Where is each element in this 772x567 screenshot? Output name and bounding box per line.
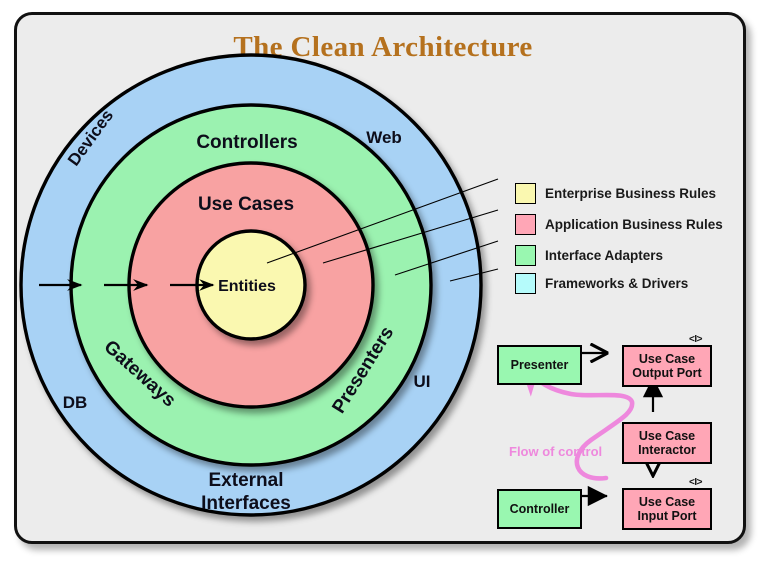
legend-label-application: Application Business Rules	[545, 218, 723, 232]
flow-box-presenter[interactable]: Presenter	[497, 345, 582, 385]
flow-box-input-port-line2: Input Port	[637, 509, 696, 523]
ring-label-external-line1: External	[209, 470, 284, 491]
flow-box-input-port-line1: Use Case	[639, 495, 695, 509]
page-title: The Clean Architecture	[17, 31, 749, 64]
ring-label-controllers: Controllers	[196, 132, 297, 153]
ring-label-ui: UI	[414, 372, 431, 391]
interface-marker-input-port: <I>	[689, 477, 702, 488]
flow-box-use-case-interactor[interactable]: Use Case Interactor	[622, 422, 712, 464]
flow-box-output-port-line1: Use Case	[639, 352, 695, 366]
diagram-root: The Clean Architecture	[0, 0, 772, 567]
legend-swatch-interface-adapters[interactable]	[515, 245, 536, 266]
flow-of-control-label: Flow of control	[509, 444, 602, 459]
ring-label-entities: Entities	[218, 278, 276, 295]
ring-label-web: Web	[366, 128, 402, 147]
flow-box-use-case-output-port[interactable]: Use Case Output Port	[622, 345, 712, 387]
ring-label-external-line2: Interfaces	[201, 493, 291, 514]
legend-swatch-frameworks[interactable]	[515, 273, 536, 294]
legend-label-interface-adapters: Interface Adapters	[545, 249, 663, 263]
flow-box-controller[interactable]: Controller	[497, 489, 582, 529]
ring-label-use-cases: Use Cases	[198, 194, 294, 215]
flow-box-presenter-label: Presenter	[511, 358, 569, 372]
flow-box-output-port-line2: Output Port	[632, 366, 701, 380]
legend-label-enterprise: Enterprise Business Rules	[545, 187, 716, 201]
flow-box-interactor-line2: Interactor	[638, 443, 696, 457]
legend-swatch-application[interactable]	[515, 214, 536, 235]
ring-label-db: DB	[63, 393, 88, 412]
interface-marker-output-port: <I>	[689, 334, 702, 345]
flow-box-interactor-line1: Use Case	[639, 429, 695, 443]
flow-box-use-case-input-port[interactable]: Use Case Input Port	[622, 488, 712, 530]
flow-box-controller-label: Controller	[510, 502, 570, 516]
legend-swatch-enterprise[interactable]	[515, 183, 536, 204]
legend-label-frameworks: Frameworks & Drivers	[545, 277, 688, 291]
